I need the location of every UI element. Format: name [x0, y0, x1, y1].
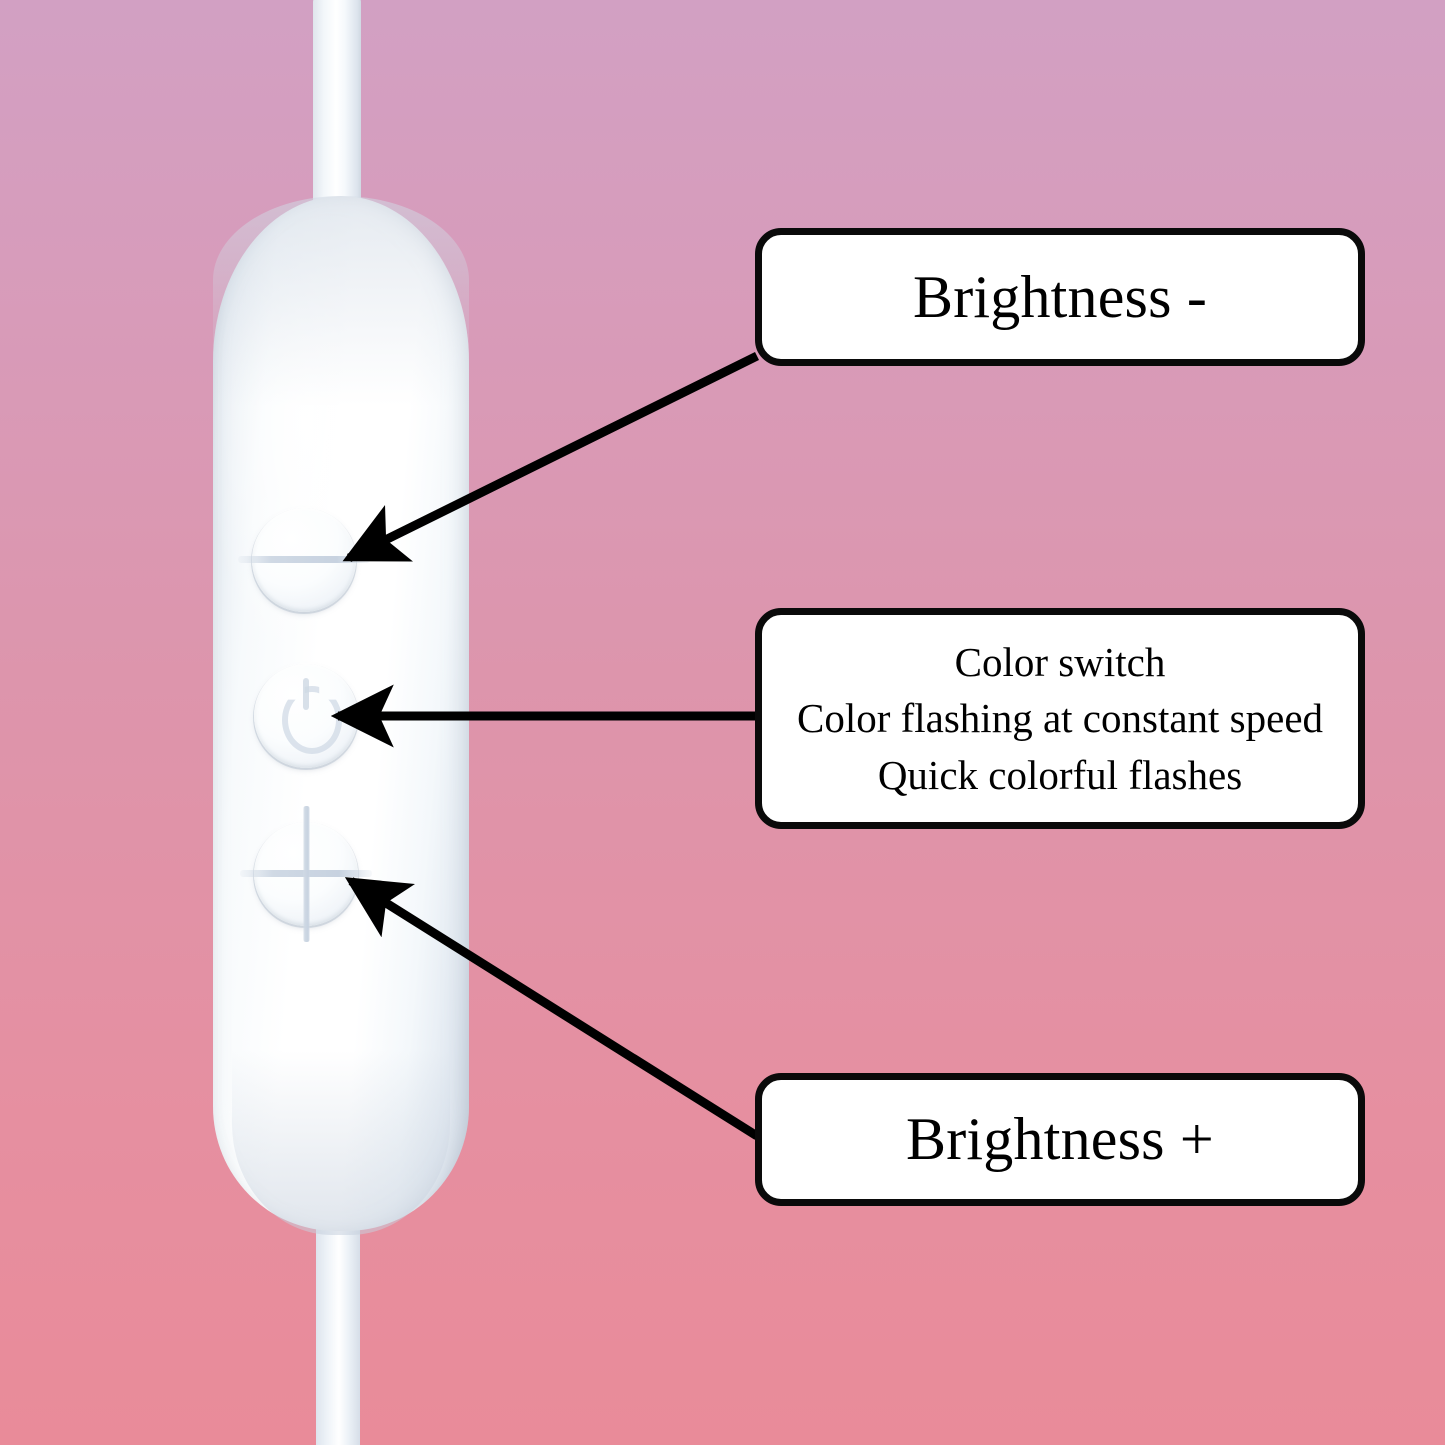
callout-brightness-minus[interactable]: Brightness -: [755, 228, 1365, 366]
callout-color-switch-line-2: Color flashing at constant speed: [797, 690, 1323, 747]
callout-brightness-minus-line-1: Brightness -: [913, 266, 1207, 329]
callout-color-switch[interactable]: Color switch Color flashing at constant …: [755, 608, 1365, 829]
arrow-to-brightness-down: [349, 356, 757, 558]
infographic-canvas: Brightness - Color switch Color flashing…: [0, 0, 1445, 1445]
callout-color-switch-line-3: Quick colorful flashes: [878, 747, 1242, 804]
arrow-to-brightness-up: [351, 881, 757, 1136]
callout-brightness-plus[interactable]: Brightness +: [755, 1073, 1365, 1206]
callout-color-switch-line-1: Color switch: [955, 634, 1166, 691]
callout-brightness-plus-line-1: Brightness +: [906, 1108, 1214, 1171]
